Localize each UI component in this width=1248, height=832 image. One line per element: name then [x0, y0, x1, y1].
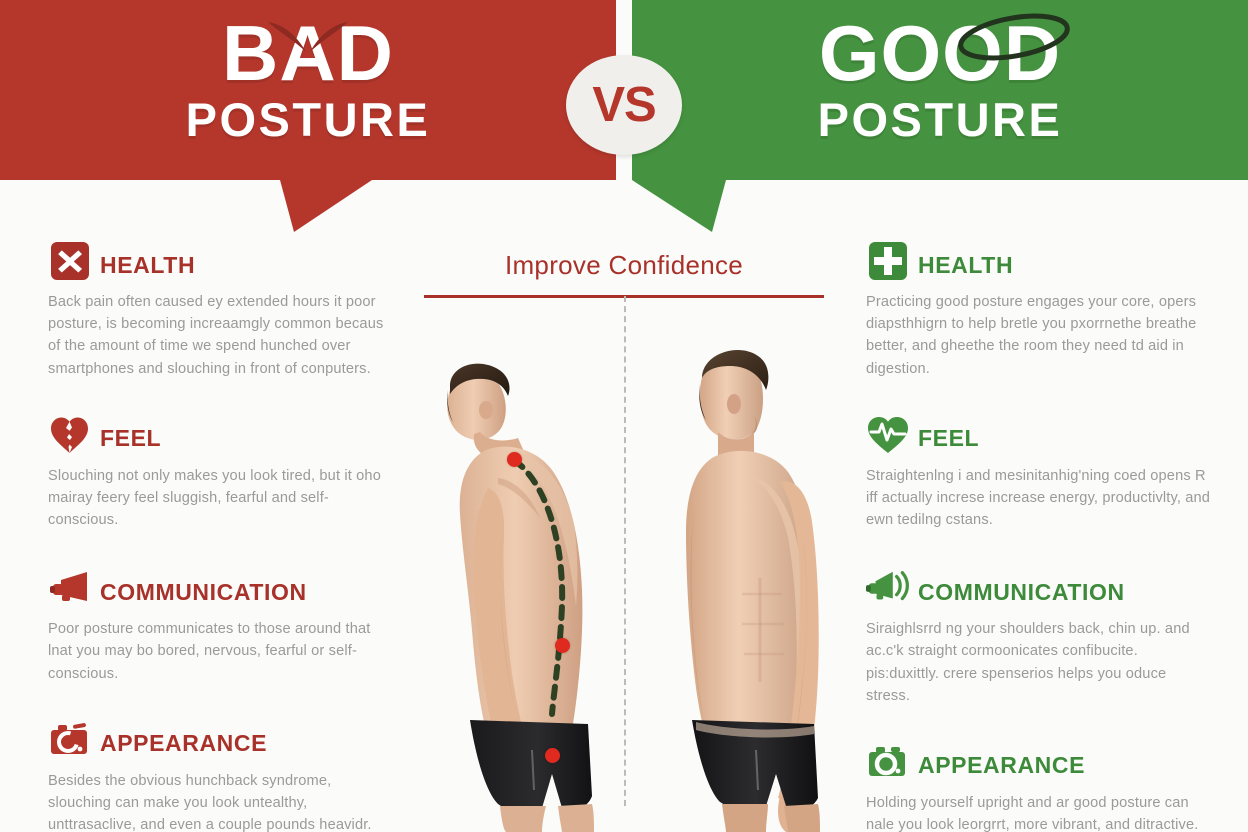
vs-badge: VS [566, 55, 682, 155]
section-feel-bad: FEEL Slouching not only makes you look t… [48, 410, 393, 532]
section-title: APPEARANCE [918, 742, 1085, 777]
megaphone-icon [48, 564, 92, 608]
section-communication-bad: COMMUNICATION Poor posture communicates … [48, 563, 393, 685]
section-title: FEEL [918, 415, 979, 450]
section-body: Practicing good posture engages your cor… [866, 291, 1214, 380]
section-body: Besides the obvious hunchback syndrome, … [48, 770, 393, 832]
bad-posture-column: HEALTH Back pain often caused ey extende… [48, 236, 393, 832]
section-body: Straightenlng i and mesinitanhig'ning co… [866, 465, 1214, 532]
heartbeat-icon [866, 411, 910, 455]
center-panel: Improve Confidence [396, 236, 852, 832]
section-body: Back pain often caused ey extended hours… [48, 291, 393, 380]
section-health-bad: HEALTH Back pain often caused ey extende… [48, 236, 393, 380]
broken-heart-icon [48, 411, 92, 455]
bad-posture-figure [402, 338, 618, 832]
spine-marker-top [507, 452, 522, 467]
section-title: COMMUNICATION [100, 569, 307, 604]
posture-infographic: BAD POSTURE GOOD POSTURE VS [0, 0, 1248, 832]
bad-banner-tail [280, 180, 372, 232]
camera-icon [866, 738, 910, 782]
section-body: Poor posture communicates to those aroun… [48, 618, 393, 685]
section-title: HEALTH [918, 242, 1013, 277]
good-posture-banner: GOOD POSTURE [632, 0, 1248, 180]
improve-confidence-title: Improve Confidence [396, 236, 852, 281]
bad-posture-banner: BAD POSTURE [0, 0, 616, 180]
section-appearance-good: APPEARANCE Holding yourself upright and … [866, 737, 1214, 832]
section-body: Siraighlsrrd ng your shoulders back, chi… [866, 618, 1214, 707]
center-dashed-divider [624, 296, 626, 806]
vs-label: VS [592, 81, 655, 130]
section-body: Slouching not only makes you look tired,… [48, 465, 393, 532]
section-appearance-bad: APPEARANCE Besides the obvious hunchback… [48, 715, 393, 832]
megaphone-waves-icon [866, 564, 910, 608]
spine-marker-middle [555, 638, 570, 653]
good-banner-tail [632, 180, 726, 232]
section-title: COMMUNICATION [918, 569, 1125, 604]
section-feel-good: FEEL Straightenlng i and mesinitanhig'ni… [866, 410, 1214, 532]
bad-posture-subtitle: POSTURE [0, 96, 616, 143]
good-posture-figure [642, 332, 852, 832]
section-communication-good: COMMUNICATION Siraighlsrrd ng your shoul… [866, 563, 1214, 707]
spine-marker-bottom [545, 748, 560, 763]
section-title: FEEL [100, 415, 161, 450]
section-body: Holding yourself upright and ar good pos… [866, 792, 1214, 832]
bad-posture-title: BAD [0, 14, 616, 92]
plus-square-icon [866, 237, 910, 281]
section-health-good: HEALTH Practicing good posture engages y… [866, 236, 1214, 380]
section-title: HEALTH [100, 242, 195, 277]
good-posture-column: HEALTH Practicing good posture engages y… [866, 236, 1214, 832]
camera-icon [48, 716, 92, 760]
good-posture-title: GOOD [632, 14, 1248, 92]
section-title: APPEARANCE [100, 720, 267, 755]
good-posture-subtitle: POSTURE [632, 96, 1248, 143]
x-mark-square-icon [48, 237, 92, 281]
